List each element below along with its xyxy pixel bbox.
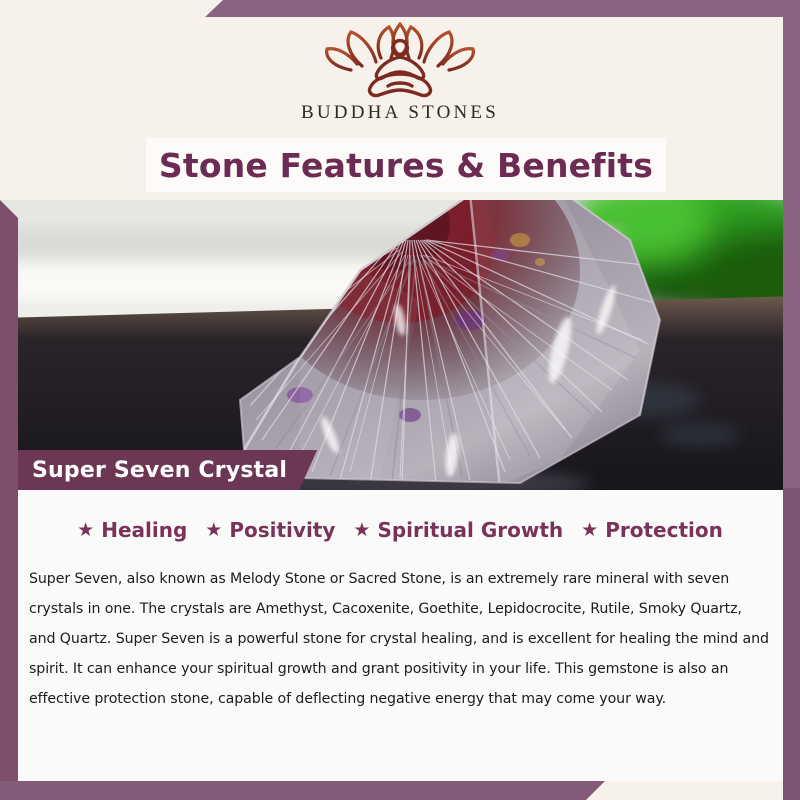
frame-right-lower-band (783, 488, 800, 800)
brand-logo: BUDDHA STONES (0, 18, 800, 136)
star-icon: ★ (581, 521, 598, 540)
lotus-meditation-icon (315, 18, 485, 100)
benefit-label: Spiritual Growth (377, 518, 563, 542)
frame-left-band (0, 200, 18, 800)
frame-top-band (205, 0, 800, 17)
frame-bottom-band (0, 781, 605, 800)
frame-right-band (783, 0, 800, 505)
benefit-item-protection: ★ Protection (581, 518, 723, 542)
benefit-label: Positivity (229, 518, 335, 542)
benefit-item-positivity: ★ Positivity (205, 518, 335, 542)
infographic-page: BUDDHA STONES Stone Features & Benefits (0, 0, 800, 800)
star-icon: ★ (353, 521, 370, 540)
description-paragraph: Super Seven, also known as Melody Stone … (29, 564, 771, 714)
benefit-label: Healing (101, 518, 187, 542)
benefit-label: Protection (605, 518, 723, 542)
brand-name: BUDDHA STONES (301, 102, 499, 124)
stone-photo (0, 200, 800, 490)
benefit-item-healing: ★ Healing (77, 518, 187, 542)
benefit-item-spiritual-growth: ★ Spiritual Growth (353, 518, 563, 542)
header-section: BUDDHA STONES Stone Features & Benefits (0, 0, 800, 200)
page-title: Stone Features & Benefits (159, 146, 653, 185)
benefits-row: ★ Healing ★ Positivity ★ Spiritual Growt… (17, 518, 783, 542)
star-icon: ★ (77, 521, 94, 540)
content-card: ★ Healing ★ Positivity ★ Spiritual Growt… (17, 490, 783, 781)
stone-name-badge: Super Seven Crystal (0, 450, 317, 490)
page-title-band: Stone Features & Benefits (146, 138, 666, 192)
stone-name-label: Super Seven Crystal (32, 458, 287, 483)
stone-photo-illustration (0, 200, 800, 490)
star-icon: ★ (205, 521, 222, 540)
